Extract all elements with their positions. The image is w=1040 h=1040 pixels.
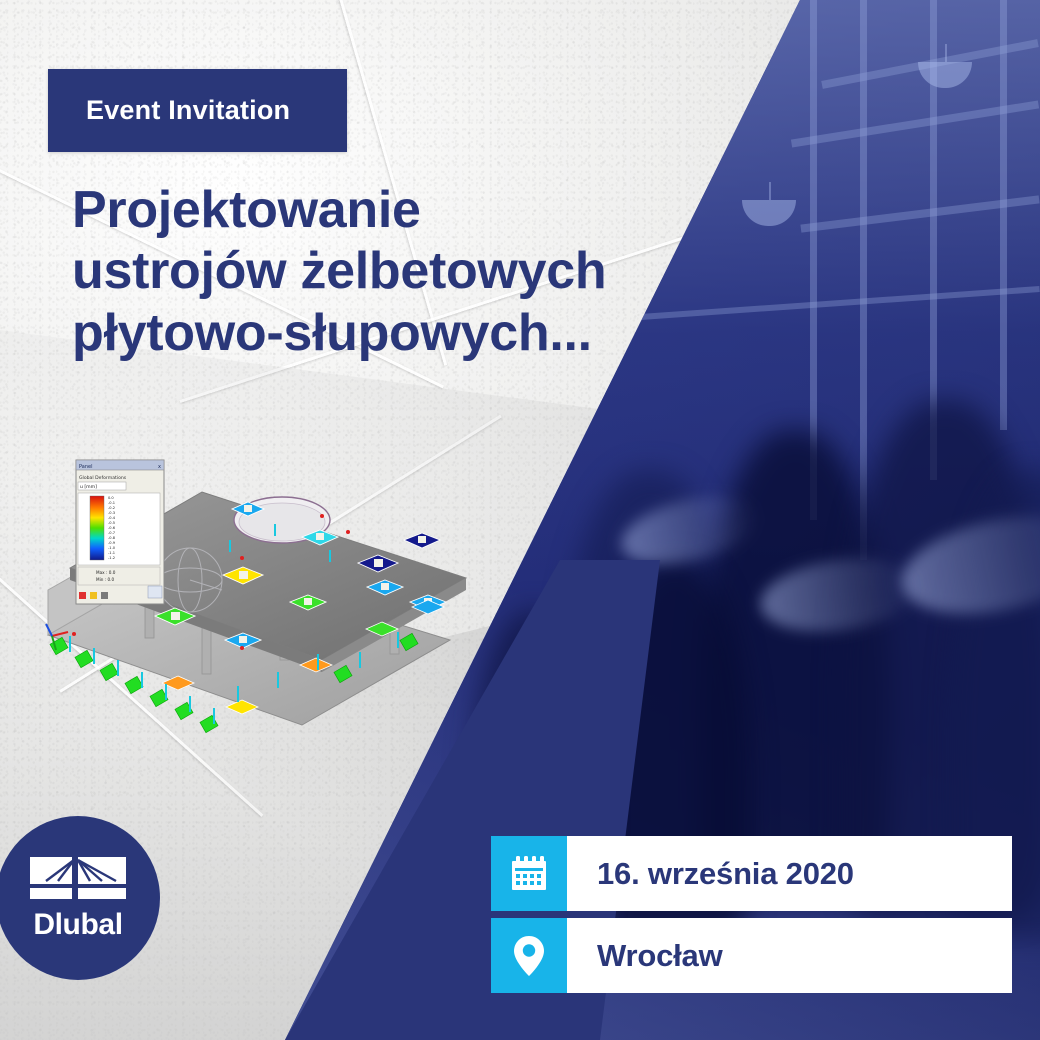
- svg-text:x: x: [158, 464, 161, 470]
- svg-text:u [mm]: u [mm]: [80, 484, 97, 490]
- svg-text:-0.6: -0.6: [108, 526, 116, 530]
- svg-text:-1.1: -1.1: [108, 551, 115, 555]
- result-panel: Panel x Global Deformations u [mm] 0.0-0…: [76, 460, 164, 604]
- headline-line-3: płytowo-słupowych...: [72, 303, 712, 364]
- svg-text:-1.0: -1.0: [108, 546, 116, 550]
- poster-canvas: Event Invitation Projektowanie ustrojów …: [0, 0, 1040, 1040]
- svg-text:-0.8: -0.8: [108, 536, 116, 540]
- event-location-value: Wrocław: [567, 918, 1012, 993]
- event-invitation-badge: Event Invitation: [48, 69, 347, 152]
- event-date-bar: 16. września 2020: [491, 836, 1012, 911]
- svg-text:-0.3: -0.3: [108, 511, 115, 515]
- structural-model-figure: Panel x Global Deformations u [mm] 0.0-0…: [30, 440, 480, 750]
- bridge-icon: [30, 857, 126, 903]
- svg-text:Global Deformations: Global Deformations: [79, 475, 127, 481]
- event-date-value: 16. września 2020: [567, 836, 1012, 911]
- photo-mullion: [860, 0, 867, 560]
- svg-text:-0.2: -0.2: [108, 506, 115, 510]
- svg-text:-0.4: -0.4: [108, 516, 116, 520]
- headline-line-1: Projektowanie: [72, 180, 712, 241]
- svg-text:-0.9: -0.9: [108, 541, 116, 545]
- svg-text:Min : 0.0: Min : 0.0: [96, 577, 114, 582]
- page-title: Projektowanie ustrojów żelbetowych płyto…: [72, 180, 712, 364]
- structural-model-svg: Panel x Global Deformations u [mm] 0.0-0…: [30, 440, 480, 750]
- photo-mullion: [1000, 0, 1007, 430]
- event-invitation-label: Event Invitation: [86, 95, 290, 126]
- svg-text:Max : 0.0: Max : 0.0: [96, 570, 116, 575]
- event-location-bar: Wrocław: [491, 918, 1012, 993]
- svg-text:-1.2: -1.2: [108, 556, 115, 560]
- headline-line-2: ustrojów żelbetowych: [72, 241, 712, 302]
- svg-text:Panel: Panel: [79, 464, 93, 470]
- svg-text:-0.5: -0.5: [108, 521, 115, 525]
- calendar-icon: [491, 836, 567, 911]
- svg-text:-0.1: -0.1: [108, 501, 115, 505]
- dlubal-logo[interactable]: Dlubal: [0, 816, 160, 980]
- location-pin-icon: [491, 918, 567, 993]
- svg-text:-0.7: -0.7: [108, 531, 115, 535]
- svg-text:0.0: 0.0: [108, 496, 114, 500]
- logo-wordmark: Dlubal: [33, 910, 122, 940]
